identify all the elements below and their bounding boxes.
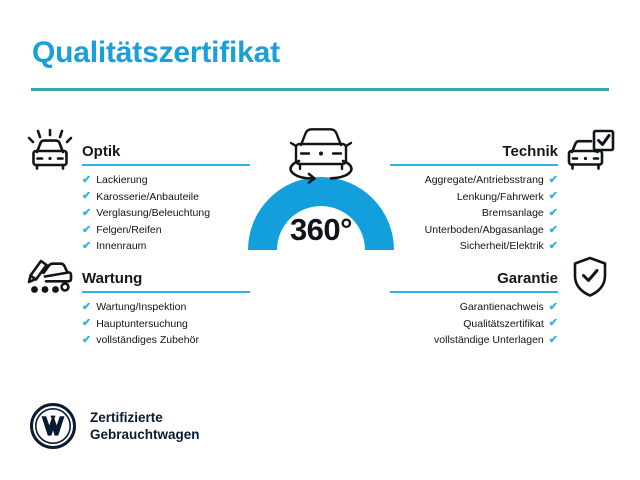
list-item-label: Hauptuntersuchung	[96, 316, 188, 333]
section-technik-divider	[390, 164, 558, 166]
footer-line-1: Zertifizierte	[90, 409, 200, 426]
section-optik-divider	[82, 164, 250, 166]
car-wash-icon	[24, 128, 76, 172]
list-item-label: Innenraum	[96, 238, 146, 255]
title-divider	[31, 88, 609, 91]
list-item-label: vollständige Unterlagen	[434, 332, 544, 349]
list-item-label: Felgen/Reifen	[96, 222, 161, 239]
check-icon: ✔	[549, 318, 558, 329]
check-icon: ✔	[82, 175, 91, 186]
check-icon: ✔	[82, 318, 91, 329]
check-icon: ✔	[549, 225, 558, 236]
check-icon: ✔	[549, 208, 558, 219]
section-wartung-title: Wartung	[82, 270, 142, 287]
section-garantie-title: Garantie	[497, 270, 558, 287]
list-item-label: Unterboden/Abgasanlage	[425, 222, 544, 239]
section-optik-title: Optik	[82, 143, 120, 160]
list-item-label: vollständiges Zubehör	[96, 332, 199, 349]
check-icon: ✔	[549, 241, 558, 252]
section-garantie-divider	[390, 291, 558, 293]
check-icon: ✔	[82, 191, 91, 202]
footer-text: Zertifizierte Gebrauchtwagen	[90, 409, 200, 443]
list-item-label: Karosserie/Anbauteile	[96, 189, 199, 206]
section-wartung-divider	[82, 291, 250, 293]
check-icon: ✔	[549, 335, 558, 346]
list-item-label: Lenkung/Fahrwerk	[457, 189, 544, 206]
certificate-page: Qualitätszertifikat	[0, 0, 640, 480]
vw-logo-icon	[30, 403, 76, 449]
list-item-label: Qualitätszertifikat	[463, 316, 544, 333]
car-service-pen-icon	[24, 255, 76, 299]
check-icon: ✔	[82, 335, 91, 346]
check-icon: ✔	[549, 302, 558, 313]
list-item-label: Sicherheit/Elektrik	[460, 238, 544, 255]
list-item-label: Wartung/Inspektion	[96, 299, 186, 316]
footer-branding: Zertifizierte Gebrauchtwagen	[30, 403, 200, 449]
page-title: Qualitätszertifikat	[32, 36, 280, 70]
check-icon: ✔	[549, 175, 558, 186]
section-technik-title: Technik	[502, 143, 558, 160]
footer-line-2: Gebrauchtwagen	[90, 426, 200, 443]
shield-check-icon	[564, 255, 616, 299]
check-icon: ✔	[82, 302, 91, 313]
check-icon: ✔	[549, 191, 558, 202]
badge-center-label: 360°	[228, 212, 414, 248]
check-icon: ✔	[82, 225, 91, 236]
svg-text:Gebrauchtwagen-Check: Gebrauchtwagen-Check	[245, 251, 397, 320]
badge-ring-label: Gebrauchtwagen-Check	[245, 251, 397, 320]
list-item-label: Verglasung/Beleuchtung	[96, 205, 210, 222]
check-icon: ✔	[82, 208, 91, 219]
list-item-label: Lackierung	[96, 172, 147, 189]
car-rotate-360-icon	[279, 121, 363, 185]
list-item-label: Aggregate/Antriebsstrang	[425, 172, 544, 189]
list-item-label: Garantienachweis	[460, 299, 544, 316]
list-item-label: Bremsanlage	[482, 205, 544, 222]
check-icon: ✔	[82, 241, 91, 252]
car-checkbox-icon	[564, 128, 616, 172]
